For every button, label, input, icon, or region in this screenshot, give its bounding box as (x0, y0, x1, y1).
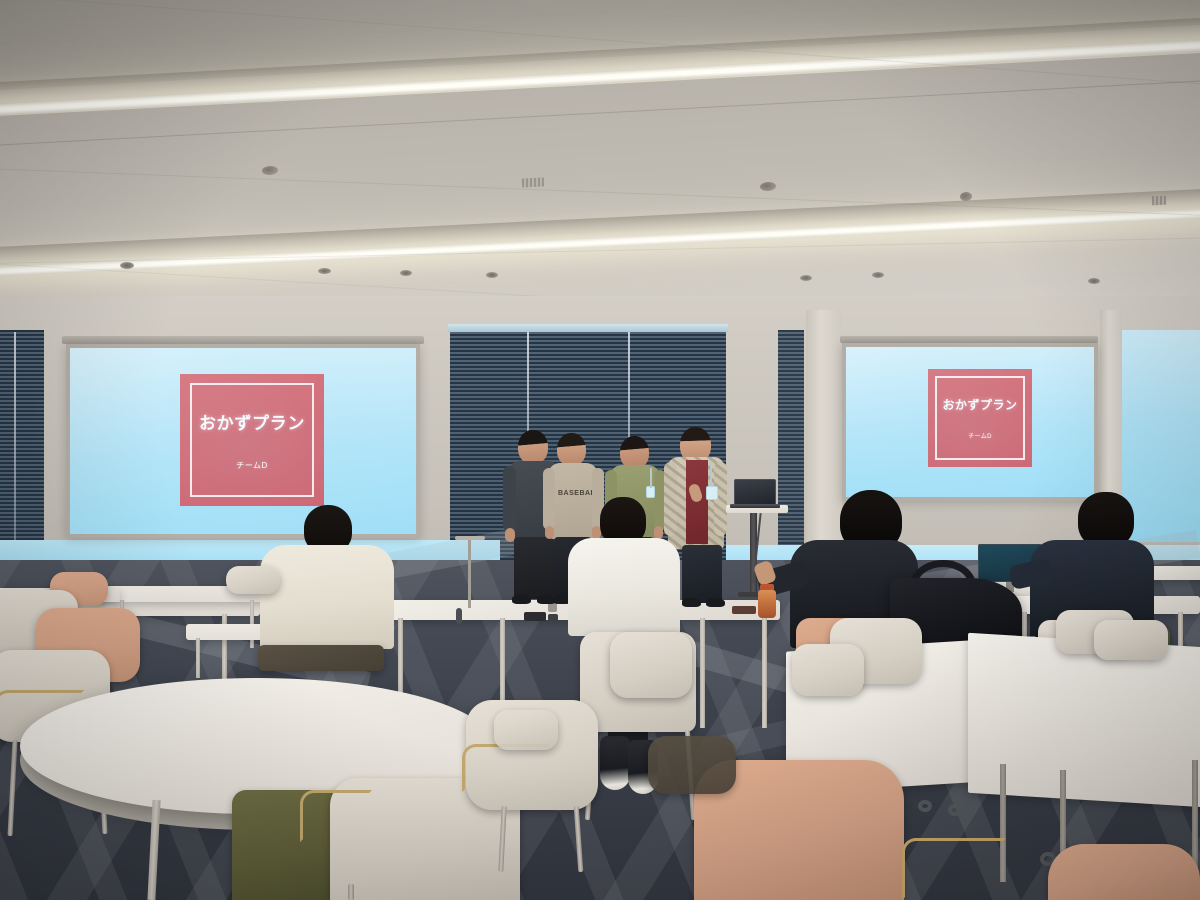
downlight-icon (800, 275, 812, 281)
slide-title: おかずプラン (943, 396, 1018, 413)
chair-leg (348, 884, 354, 900)
chair-beige-right-2[interactable] (792, 644, 864, 696)
shoe-left (682, 598, 701, 607)
left-screen-surface: おかずプラン チームD (70, 348, 416, 534)
slide-card: おかずプラン チームD (180, 374, 324, 506)
chair-armrest (462, 744, 550, 792)
lanyard (650, 468, 652, 488)
downlight-icon (486, 272, 498, 278)
head (557, 433, 586, 466)
table-leg (762, 618, 767, 728)
inner-maroon-tee (686, 460, 708, 544)
slide-card: おかずプラン チームD (928, 369, 1032, 467)
table-item-snack (732, 606, 756, 614)
chair-armrest (300, 790, 372, 842)
caster-wheel (948, 804, 962, 816)
window-blinds-right (778, 330, 804, 580)
downlight-icon (120, 262, 134, 269)
shirt-text: BASEBALL (558, 489, 590, 511)
right-screen-surface: おかずプラン チームD (846, 347, 1094, 497)
shoe-right (706, 598, 725, 607)
mic-stand (468, 540, 471, 608)
chair-armrest (902, 838, 1006, 900)
shoe-left (600, 736, 630, 790)
chair-audience-1[interactable] (258, 645, 384, 671)
table-item-marker (456, 608, 462, 624)
table-item-device (548, 614, 558, 621)
table-leg (700, 618, 705, 728)
arm-left (543, 468, 555, 530)
lanyard (710, 462, 712, 486)
legs (514, 537, 554, 599)
drink-bottle[interactable] (758, 590, 776, 618)
name-badge (706, 486, 718, 500)
conference-room-photo: おかずプラン チームD おかずプラン チームD (0, 0, 1200, 900)
torso-dress-shirt (260, 545, 394, 649)
ceiling-vent-icon (1152, 196, 1166, 206)
legs (682, 545, 722, 603)
shoe-left (512, 595, 531, 604)
right-screen-roller (840, 336, 1098, 343)
downlight-icon (1088, 278, 1100, 284)
left-projection-screen[interactable]: おかずプラン チームD (66, 344, 420, 538)
slide-border (190, 383, 314, 497)
slide-subtitle: チームD (236, 460, 267, 471)
left-screen-roller (62, 336, 424, 344)
chair-dark-behind[interactable] (648, 736, 736, 794)
ceiling (0, 0, 1200, 312)
chair-tan-corner-right[interactable] (1048, 844, 1200, 900)
chair-beige-right-4[interactable] (1094, 620, 1168, 660)
torso-white-tee (568, 538, 680, 636)
slide-border (935, 376, 1024, 460)
laptop-base (730, 504, 780, 508)
arm-left (664, 462, 677, 536)
table-leg (196, 638, 200, 678)
table-item-cable (524, 612, 546, 621)
slide-title: おかずプラン (199, 409, 305, 434)
ceiling-vent-icon (522, 177, 544, 187)
arm-left (503, 466, 516, 532)
downlight-icon (400, 270, 412, 276)
downlight-icon (318, 268, 331, 274)
slide-subtitle: チームD (968, 431, 992, 440)
chair-beige-mid-2[interactable] (494, 710, 558, 750)
laptop-screen[interactable] (734, 479, 776, 505)
chair-beige-back-1[interactable] (226, 566, 280, 594)
chair-beige-center-2[interactable] (610, 632, 692, 698)
head (518, 430, 548, 464)
right-projection-screen[interactable]: おかずプラン チームD (842, 343, 1098, 501)
caster-wheel (918, 800, 932, 812)
downlight-icon (872, 272, 884, 278)
hand-left (545, 526, 554, 539)
blind-valance (448, 324, 728, 332)
